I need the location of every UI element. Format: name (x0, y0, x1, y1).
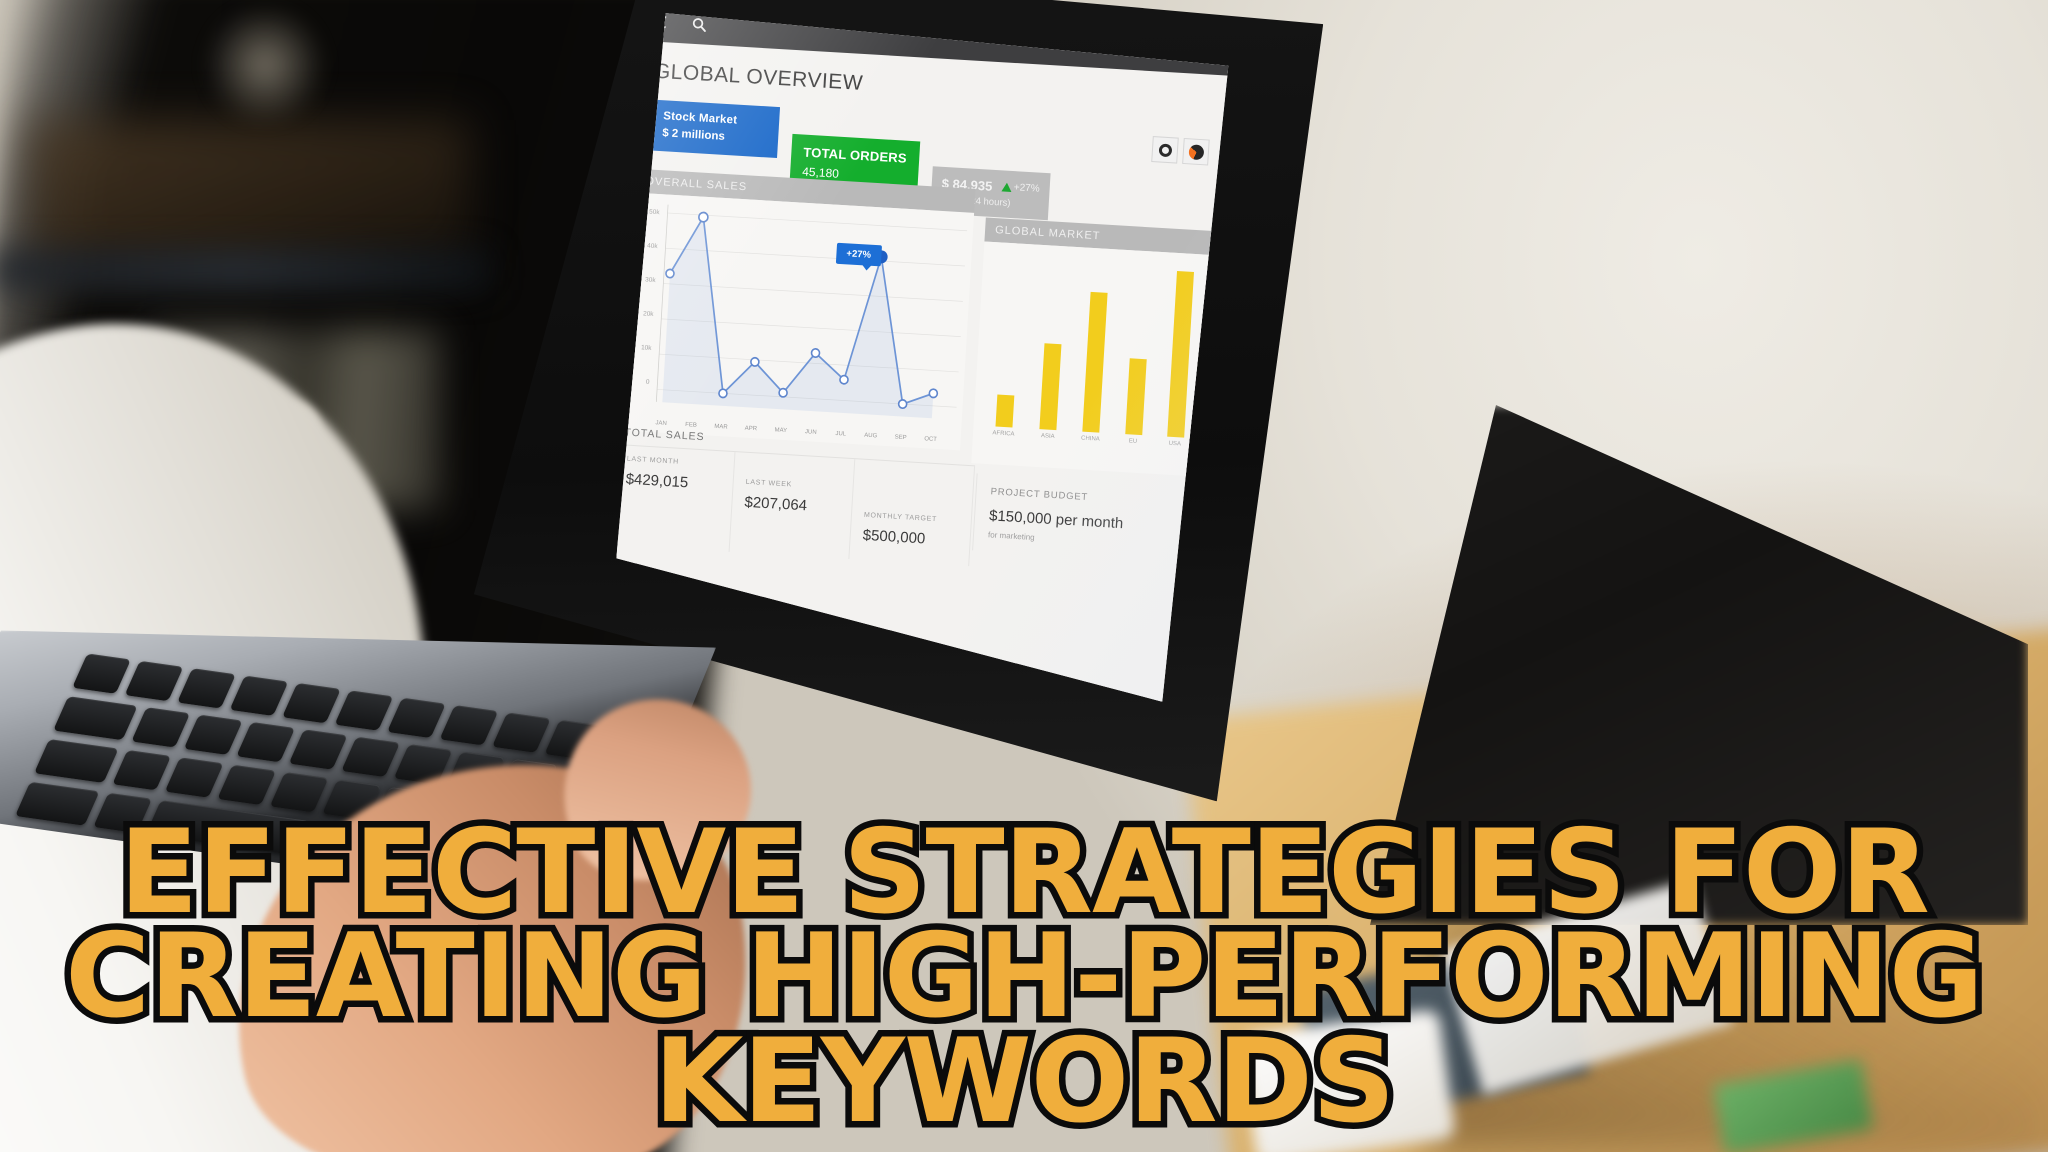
bar-label: USA (1168, 441, 1181, 448)
bar-group: AFRICA ASIA CHINA (983, 256, 1203, 448)
bar (1167, 271, 1194, 437)
y-tick: 10k (641, 344, 653, 352)
y-tick: 20k (643, 310, 655, 318)
stat-value: $207,064 (744, 494, 840, 517)
stat-value: $500,000 (862, 527, 958, 550)
stat-monthly-target[interactable]: MONTHLY TARGET $500,000 (849, 459, 975, 566)
stat-value: $429,015 (625, 471, 721, 494)
headline-line-3: KEYWORDS (40, 1030, 2008, 1134)
background-highlight (200, 10, 330, 120)
line-chart-svg (656, 205, 968, 430)
headline-overlay: EFFECTIVE STRATEGIES FOR CREATING HIGH-P… (0, 821, 2048, 1134)
circle-ring-icon[interactable] (1151, 136, 1179, 164)
bar-chart: AFRICA ASIA CHINA (971, 241, 1214, 476)
bar (1040, 343, 1062, 430)
background-shelf-lower (0, 250, 490, 290)
bar (1125, 359, 1146, 435)
panel-overall-sales: OVERALL SALES (621, 169, 976, 451)
stat-last-week[interactable]: LAST WEEK $207,064 (730, 452, 856, 559)
kpi-label: TOTAL ORDERS (803, 145, 908, 166)
bar (1082, 291, 1107, 432)
bar-label: ASIA (1041, 433, 1055, 440)
search-icon[interactable] (691, 16, 707, 32)
bar-label: EU (1129, 438, 1138, 444)
hero-image: GLOBAL OVERVIEW Stock Market $ 2 million… (0, 0, 2048, 1152)
delta-text: +27% (1013, 182, 1039, 195)
y-tick: 0 (646, 379, 650, 386)
y-tick: 50k (649, 209, 661, 217)
bar-column: ASIA (1039, 259, 1067, 440)
stat-last-month[interactable]: LAST MONTH $429,015 (610, 445, 736, 552)
y-tick: 40k (647, 242, 659, 250)
project-budget-label: PROJECT BUDGET (990, 486, 1187, 509)
kpi-card-stock-market[interactable]: Stock Market $ 2 millions (649, 100, 780, 159)
project-budget-panel[interactable]: PROJECT BUDGET $150,000 per month for ma… (972, 473, 1202, 563)
bar (995, 394, 1014, 427)
background-shelf (30, 120, 470, 270)
arrow-up-icon (1002, 182, 1013, 192)
kpi-value: $ 2 millions (662, 127, 767, 145)
stat-label: LAST MONTH (627, 456, 722, 469)
bar-column: CHINA (1081, 262, 1110, 443)
bar-column: USA (1166, 267, 1194, 448)
line-chart: 50k 40k 30k 20k 10k 0 JAN FEB MAR (621, 193, 975, 451)
screen-overlay-chips (1151, 136, 1210, 166)
total-sales-cells: LAST MONTH $429,015 LAST WEEK $207,064 M… (610, 445, 975, 566)
chart-tooltip: +27% (836, 243, 882, 267)
bar-column: AFRICA (992, 257, 1025, 438)
total-sales-panel: TOTAL SALES LAST MONTH $429,015 LAST WEE… (610, 420, 977, 566)
bar-column: EU (1124, 264, 1152, 445)
stat-label: LAST WEEK (746, 479, 841, 492)
kpi-label: Stock Market (663, 110, 768, 128)
stat-label: MONTHLY TARGET (864, 512, 959, 525)
panel-global-market: GLOBAL MARKET AFRICA ASIA (971, 218, 1215, 477)
kpi-sales-delta: +27% (1002, 181, 1040, 194)
bar-label: AFRICA (992, 430, 1014, 437)
bar-label: CHINA (1081, 436, 1100, 443)
y-tick: 30k (645, 276, 657, 284)
swirl-icon[interactable] (1182, 138, 1210, 166)
